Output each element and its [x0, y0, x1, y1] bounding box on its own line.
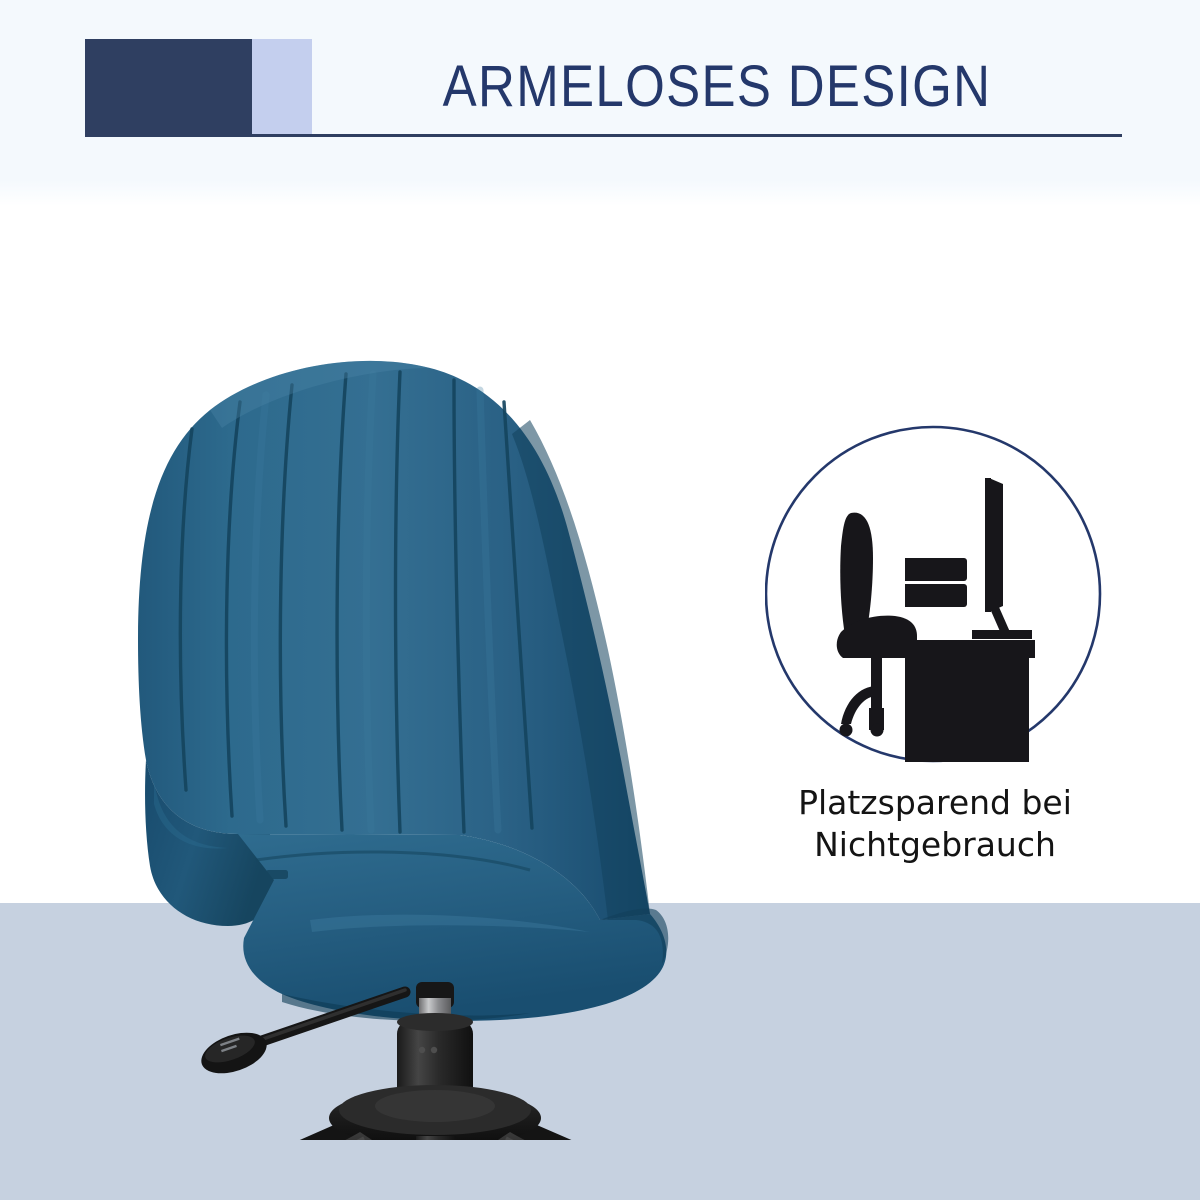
feature-icon-badge	[765, 418, 1105, 766]
header-divider-rule	[85, 134, 1122, 137]
header-band-fade	[0, 180, 1200, 206]
header-swatch-light	[252, 39, 312, 135]
page-title: ARMELOSES DESIGN	[361, 46, 1074, 126]
feature-callout: Platzsparend bei Nichtgebrauch	[750, 418, 1120, 866]
brand-tag	[266, 870, 288, 879]
product-photo	[60, 220, 740, 1140]
feature-caption-line-1: Platzsparend bei	[750, 782, 1120, 824]
feature-caption: Platzsparend bei Nichtgebrauch	[750, 782, 1120, 866]
five-star-base	[179, 1085, 690, 1140]
feature-caption-line-2: Nichtgebrauch	[750, 824, 1120, 866]
header-swatch-dark	[85, 39, 252, 135]
product-marketing-image: ARMELOSES DESIGN	[0, 0, 1200, 1200]
